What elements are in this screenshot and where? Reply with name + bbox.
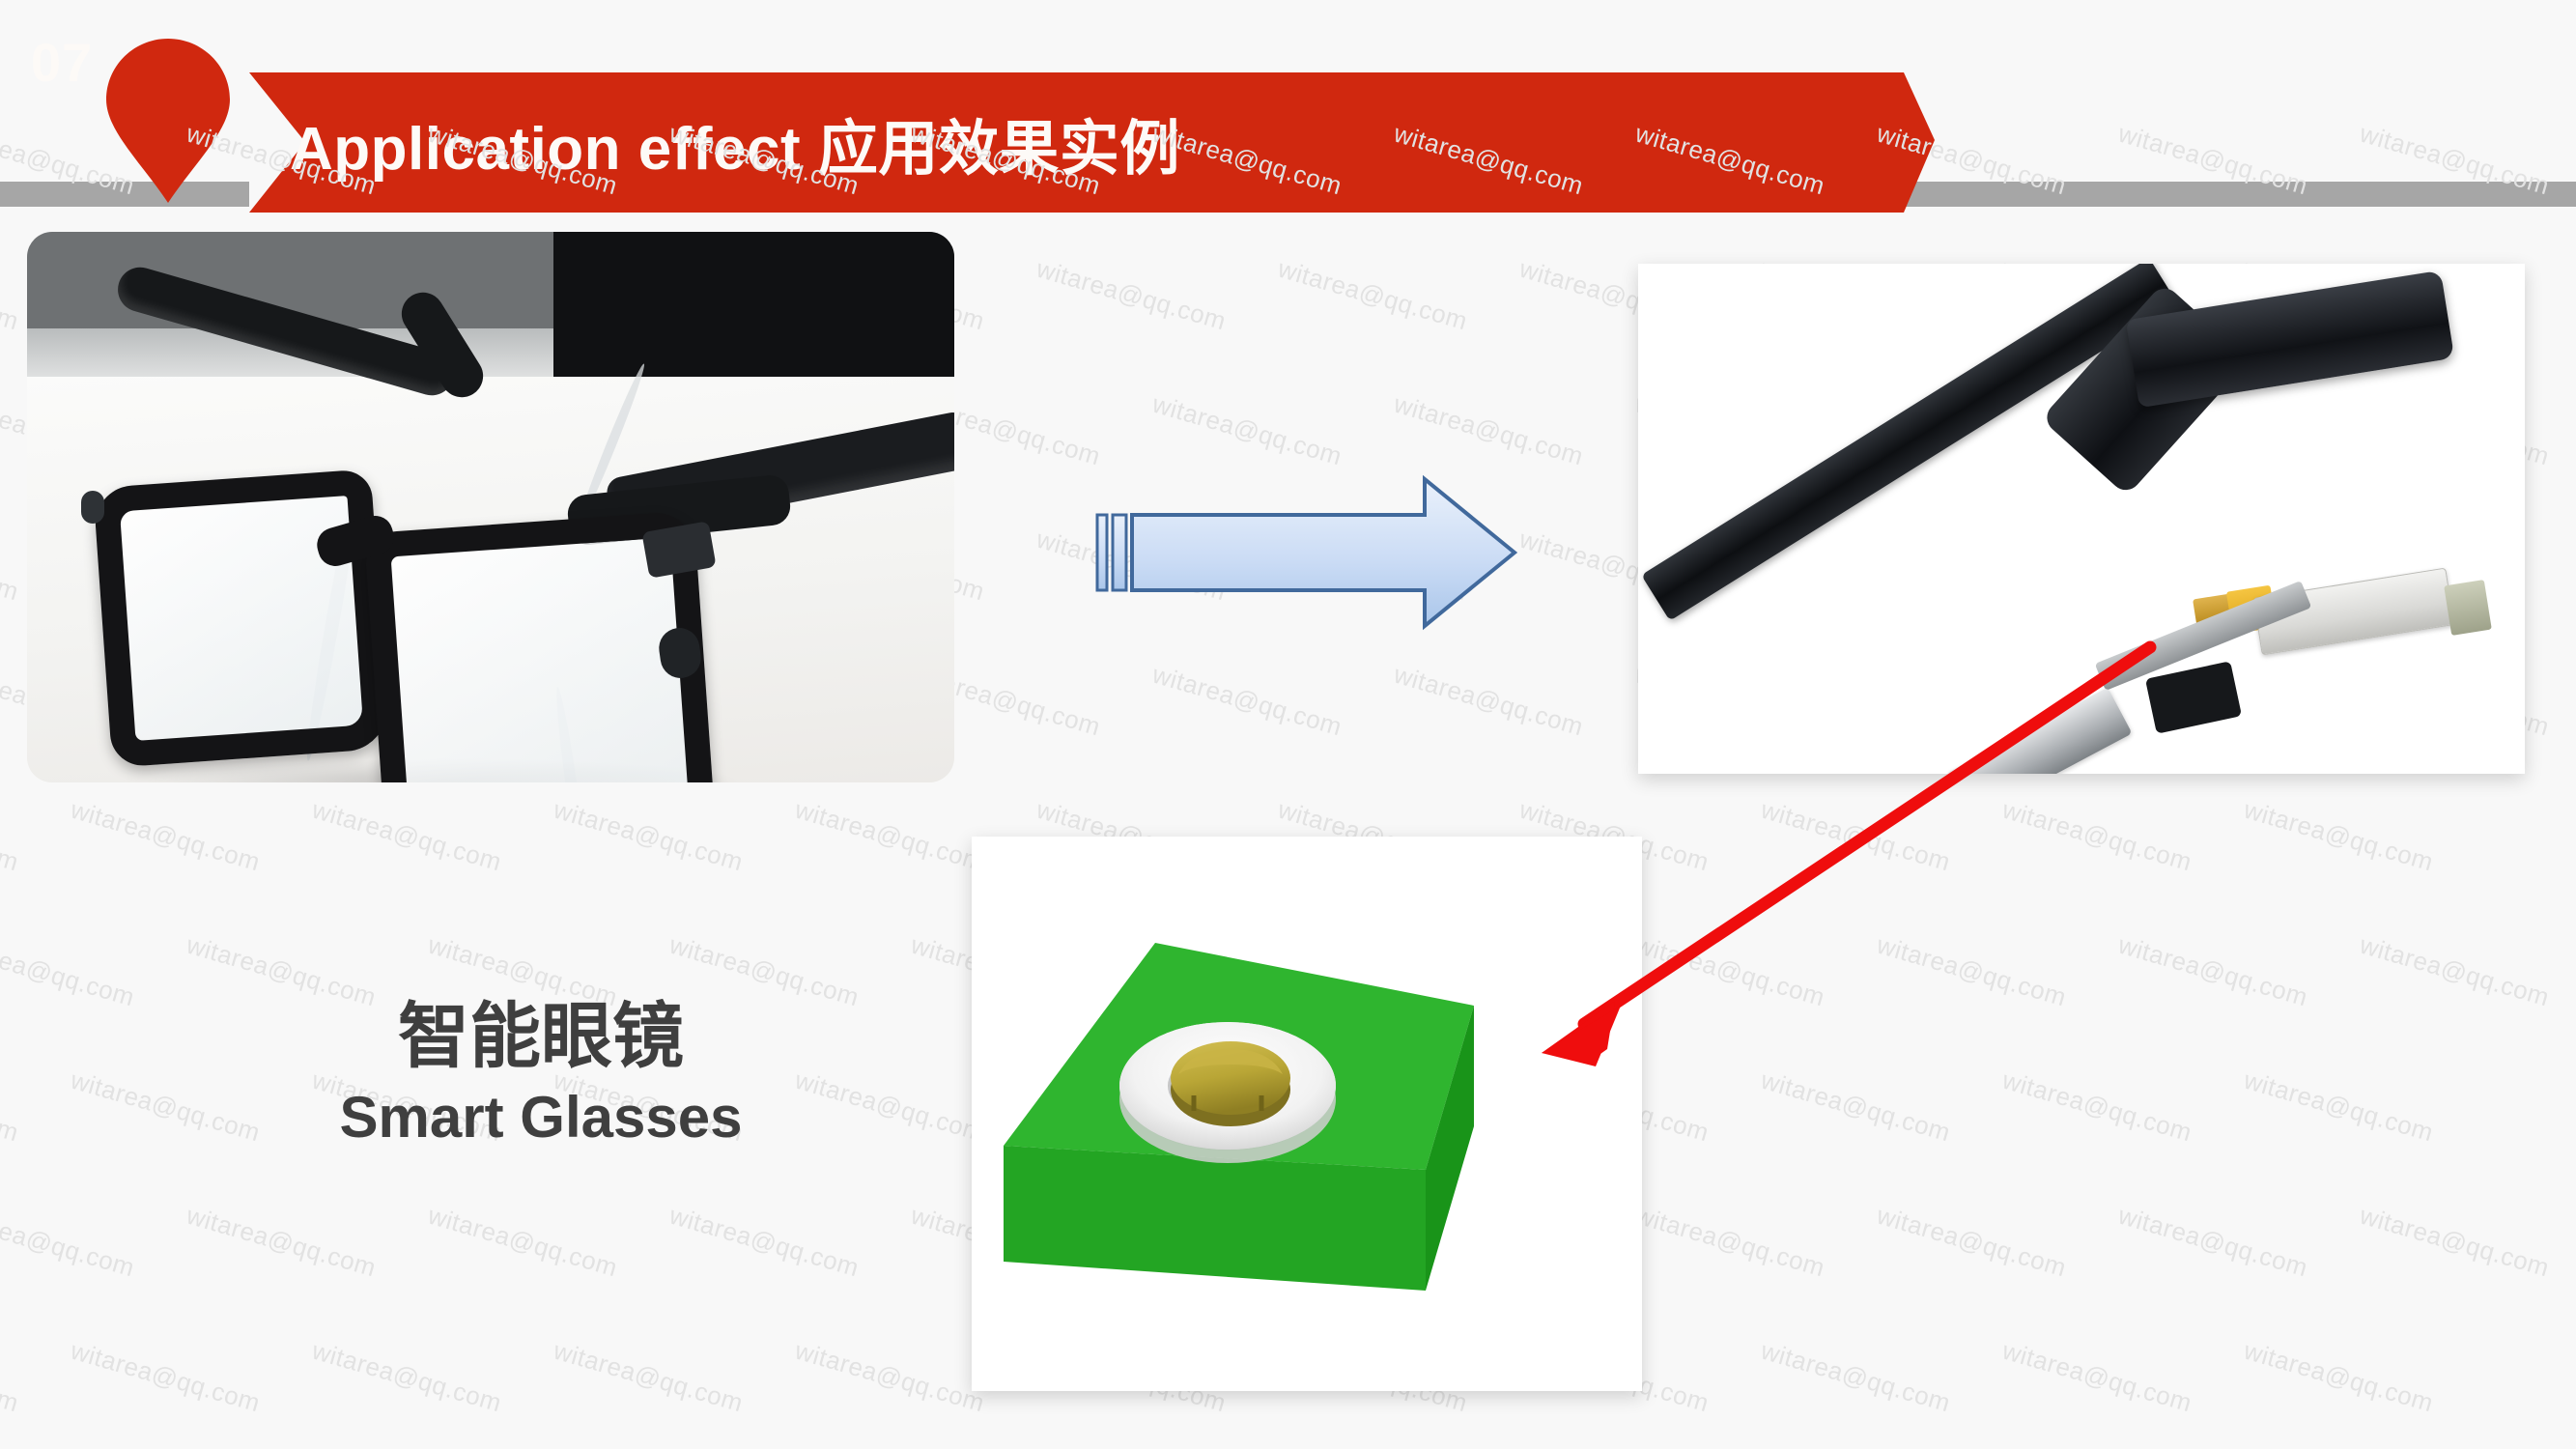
- watermark-text: witarea@qq.com: [551, 795, 747, 878]
- watermark-text: witarea@qq.com: [2241, 1065, 2437, 1149]
- battery-end-bracket: [2444, 580, 2492, 636]
- watermark-text: witarea@qq.com: [1758, 1065, 1954, 1149]
- watermark-text: witarea@qq.com: [2357, 930, 2553, 1013]
- green-block-render: [972, 837, 1642, 1391]
- watermark-text: witarea@qq.com: [68, 1336, 264, 1419]
- exploded-view-photo: [1638, 264, 2525, 774]
- watermark-text: witarea@qq.com: [309, 1336, 505, 1419]
- watermark-text: witarea@qq.com: [2241, 795, 2437, 878]
- caption-block: 智能眼镜 Smart Glasses: [241, 1000, 840, 1152]
- watermark-text: witarea@qq.com: [0, 1336, 22, 1419]
- watermark-text: witarea@qq.com: [2115, 1201, 2311, 1284]
- watermark-text: witarea@qq.com: [1999, 1065, 2195, 1149]
- slide-root: Application effect 应用效果实例 07: [0, 0, 2576, 1449]
- glasses-frame-group: [27, 232, 954, 782]
- slide-header: Application effect 应用效果实例 07: [0, 0, 2576, 222]
- black-rubber-gasket: [2145, 661, 2242, 733]
- watermark-text: witarea@qq.com: [68, 795, 264, 878]
- watermark-text: witarea@qq.com: [2357, 1201, 2553, 1284]
- watermark-text: witarea@qq.com: [1999, 795, 2195, 878]
- glasses-temple-left: [113, 262, 460, 400]
- page-title: Application effect 应用效果实例: [290, 72, 1180, 213]
- watermark-text: witarea@qq.com: [1033, 254, 1230, 337]
- watermark-text: witarea@qq.com: [0, 1201, 138, 1284]
- watermark-text: witarea@qq.com: [1758, 795, 1954, 878]
- watermark-text: witarea@qq.com: [1874, 1201, 2070, 1284]
- watermark-text: witarea@qq.com: [1874, 930, 2070, 1013]
- watermark-text: witarea@qq.com: [1391, 389, 1587, 472]
- watermark-text: witarea@qq.com: [2115, 930, 2311, 1013]
- process-arrow-icon: [1091, 464, 1574, 657]
- watermark-text: witarea@qq.com: [792, 795, 988, 878]
- watermark-text: witarea@qq.com: [2241, 1336, 2437, 1419]
- watermark-text: witarea@qq.com: [1632, 1201, 1828, 1284]
- watermark-text: witarea@qq.com: [1149, 389, 1345, 472]
- glasses-lens-left: [93, 469, 390, 767]
- section-number-label: 07: [0, 0, 124, 124]
- watermark-text: witarea@qq.com: [792, 1336, 988, 1419]
- watermark-text: witarea@qq.com: [0, 795, 22, 878]
- watermark-text: witarea@qq.com: [309, 795, 505, 878]
- watermark-text: witarea@qq.com: [1758, 1336, 1954, 1419]
- exploded-view-canvas: [1638, 264, 2525, 774]
- watermark-text: witarea@qq.com: [1999, 1336, 2195, 1419]
- caption-english: Smart Glasses: [241, 1083, 840, 1152]
- smart-glasses-photo: [27, 232, 954, 782]
- temple-arm-ear-piece: [2126, 270, 2454, 408]
- section-number-pin-icon: [106, 39, 230, 203]
- glasses-camera-icon: [81, 491, 104, 524]
- watermark-text: witarea@qq.com: [68, 1065, 264, 1149]
- watermark-text: witarea@qq.com: [666, 1201, 863, 1284]
- green-block-canvas: [972, 837, 1642, 1391]
- watermark-text: witarea@qq.com: [0, 254, 22, 337]
- watermark-text: witarea@qq.com: [184, 1201, 380, 1284]
- metal-bracket-upper: [1945, 688, 2132, 774]
- caption-chinese: 智能眼镜: [241, 1000, 840, 1075]
- watermark-text: witarea@qq.com: [0, 525, 22, 608]
- watermark-text: witarea@qq.com: [1391, 660, 1587, 743]
- watermark-text: witarea@qq.com: [1275, 254, 1471, 337]
- watermark-text: witarea@qq.com: [551, 1336, 747, 1419]
- watermark-text: witarea@qq.com: [0, 1065, 22, 1149]
- watermark-text: witarea@qq.com: [1632, 930, 1828, 1013]
- watermark-text: witarea@qq.com: [1149, 660, 1345, 743]
- block-front-face: [1004, 1146, 1426, 1291]
- watermark-text: witarea@qq.com: [425, 1201, 621, 1284]
- watermark-text: witarea@qq.com: [0, 930, 138, 1013]
